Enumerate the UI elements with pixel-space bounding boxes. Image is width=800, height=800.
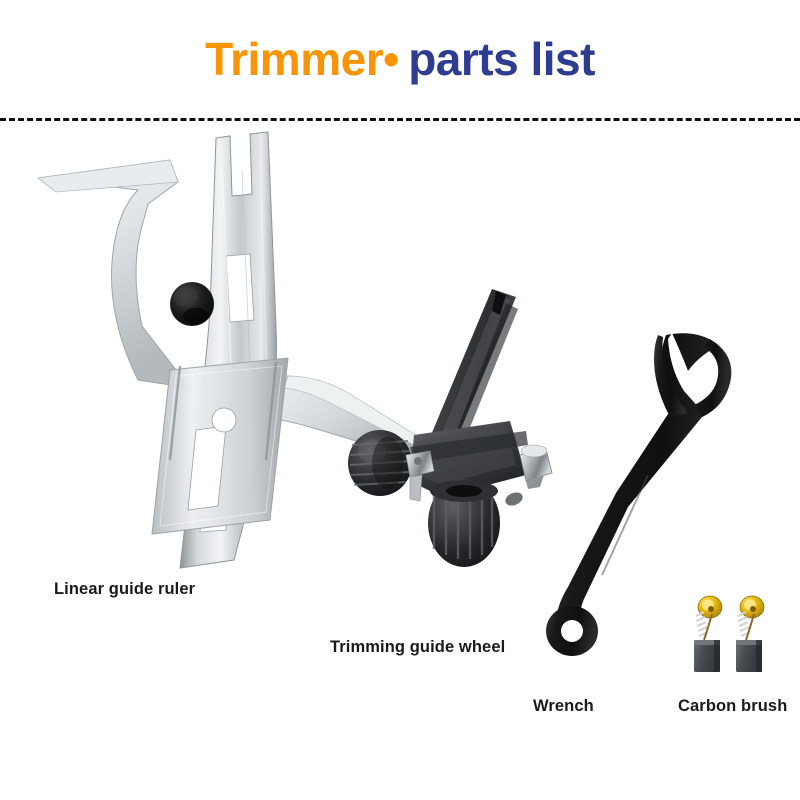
dashed-divider — [0, 118, 800, 121]
caption-wrench: Wrench — [533, 697, 594, 716]
parts-list-page: Trimmer•parts list — [0, 0, 800, 800]
page-title: Trimmer•parts list — [0, 36, 800, 82]
ruler-knob — [170, 282, 214, 326]
title-bullet-icon: • — [383, 33, 401, 85]
caption-linear-guide-ruler: Linear guide ruler — [54, 580, 195, 599]
caption-trimming-guide-wheel: Trimming guide wheel — [330, 638, 505, 657]
carbon-brush-image — [686, 592, 786, 682]
title-rest-word: parts list — [401, 33, 595, 85]
carbon-brush-unit — [736, 596, 764, 672]
ruler-slide-clamp — [152, 358, 288, 534]
guide-wheel-roller — [428, 479, 500, 567]
caption-carbon-brush: Carbon brush — [678, 697, 787, 716]
carbon-brush-unit — [694, 596, 722, 672]
ruler-left-wing — [38, 160, 190, 388]
guide-wheel-knob — [348, 430, 412, 496]
title-brand-word: Trimmer — [205, 33, 383, 85]
